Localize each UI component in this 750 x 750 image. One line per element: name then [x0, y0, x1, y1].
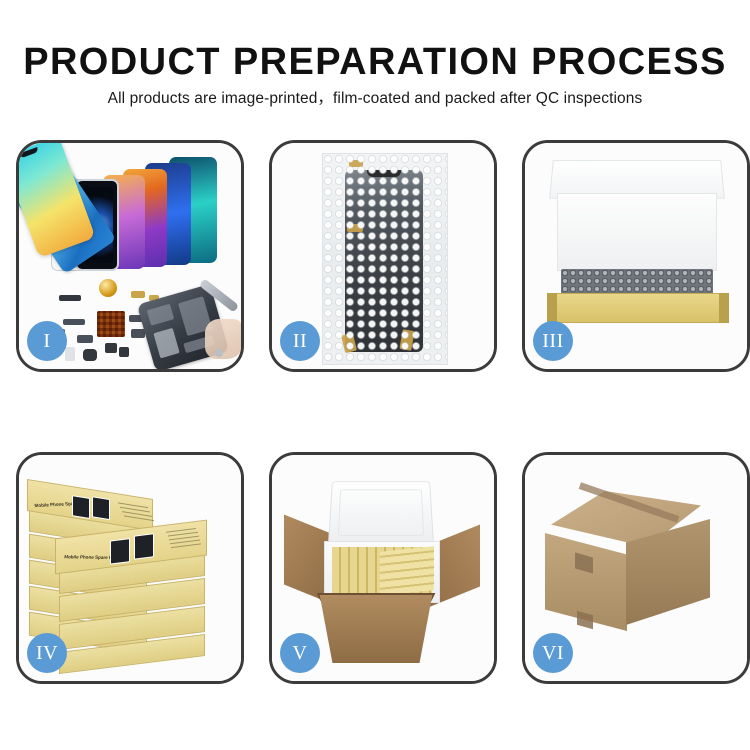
process-step-panel-2[interactable]: II [269, 140, 497, 372]
part-connector [65, 347, 75, 361]
step-badge-2: II [280, 321, 320, 361]
box-phone-image-3 [110, 538, 130, 564]
technician-hand [205, 319, 241, 359]
part-speaker [83, 349, 97, 361]
process-step-panel-5[interactable]: V [269, 452, 497, 684]
screw-part [215, 349, 223, 357]
step-badge-5: V [280, 633, 320, 673]
step-badge-4: IV [27, 633, 67, 673]
box-phone-image-2 [92, 496, 110, 520]
gold-component-icon [99, 279, 117, 297]
process-step-panel-4[interactable]: Mobile Phone Spare Parts Mobile Phone Sp… [16, 452, 244, 684]
step-badge-1: I [27, 321, 67, 361]
process-step-panel-1[interactable]: I [16, 140, 244, 372]
bubble-wrap-bag [322, 153, 448, 365]
flex-cable-5 [131, 329, 145, 338]
carton-body [312, 595, 440, 663]
kraft-box-right-edge [719, 293, 729, 323]
kraft-box-front [547, 293, 729, 323]
flex-cable-3 [77, 335, 93, 343]
packed-yellow-boxes-right [380, 546, 434, 596]
bubble-texture [323, 154, 447, 364]
styrofoam-lid [328, 481, 434, 545]
circuit-board-part [97, 311, 125, 337]
foam-sheet [557, 193, 717, 271]
step-badge-3: III [533, 321, 573, 361]
box-phone-image-4 [134, 533, 154, 559]
kraft-box-left-edge [547, 293, 557, 323]
flex-cable-1 [63, 319, 85, 325]
process-step-panel-6[interactable]: VI [522, 452, 750, 684]
part-button [119, 347, 129, 357]
process-step-grid: I II [0, 0, 750, 750]
part-chip-1 [59, 295, 81, 301]
process-step-panel-3[interactable]: III [522, 140, 750, 372]
part-chip-2 [131, 291, 145, 298]
box-phone-image-1 [72, 495, 90, 519]
bubble-padding-layer [561, 269, 713, 295]
part-camera [105, 343, 117, 353]
step-badge-6: VI [533, 633, 573, 673]
product-preparation-page: PRODUCT PREPARATION PROCESS All products… [0, 0, 750, 750]
